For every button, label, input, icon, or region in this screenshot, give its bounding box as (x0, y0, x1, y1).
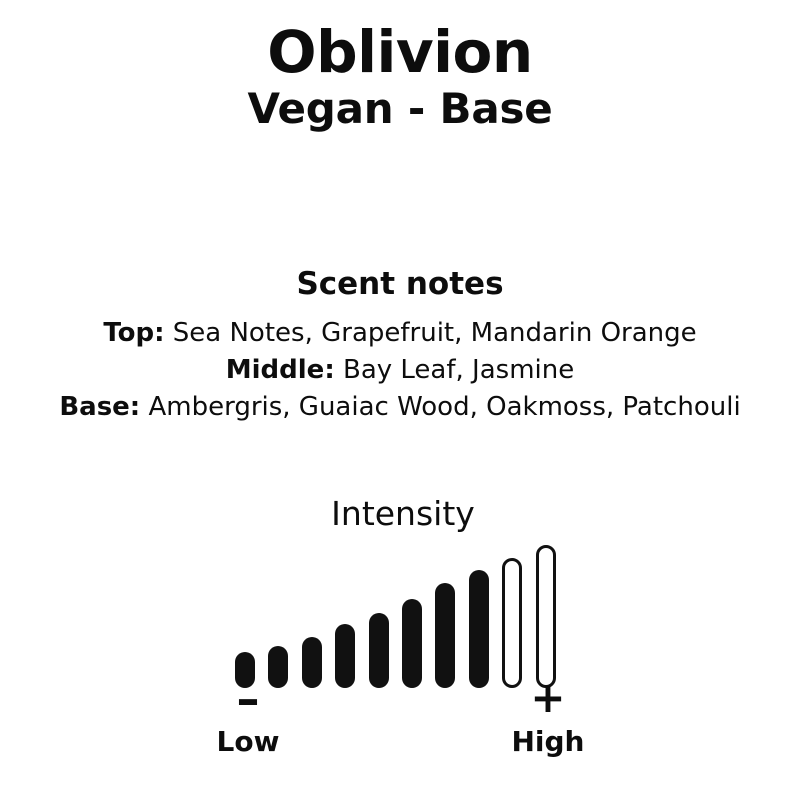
product-title: Oblivion (0, 22, 800, 83)
intensity-bar-chart (0, 538, 800, 688)
intensity-section: Intensity (0, 494, 800, 688)
perfume-info-card: Oblivion Vegan - Base Scent notes Top: S… (0, 0, 800, 800)
scent-notes-heading: Scent notes (0, 266, 800, 303)
scent-note-middle-label: Middle: (226, 355, 335, 385)
scent-note-base-label: Base: (59, 392, 140, 422)
scent-note-top-value: Sea Notes, Grapefruit, Mandarin Orange (173, 318, 697, 348)
scent-note-top-label: Top: (103, 318, 164, 348)
minus-icon: – (188, 681, 308, 723)
scent-note-top: Top: Sea Notes, Grapefruit, Mandarin Ora… (0, 315, 800, 352)
intensity-bar-7 (435, 583, 455, 688)
scent-notes-section: Scent notes Top: Sea Notes, Grapefruit, … (0, 266, 800, 426)
intensity-bar-5 (369, 613, 389, 688)
intensity-bar-9 (502, 558, 522, 688)
intensity-bar-6 (402, 599, 422, 688)
intensity-bar-10 (536, 545, 556, 688)
intensity-scale-high: + High (488, 681, 608, 758)
scent-note-middle-value: Bay Leaf, Jasmine (343, 355, 574, 385)
intensity-low-label: Low (188, 727, 308, 758)
intensity-heading: Intensity (0, 494, 800, 534)
plus-icon: + (488, 681, 608, 723)
intensity-scale-legend: – Low + High (0, 681, 800, 771)
intensity-bar-8 (469, 570, 489, 688)
product-subtitle: Vegan - Base (0, 85, 800, 132)
product-header: Oblivion Vegan - Base (0, 22, 800, 133)
scent-note-middle: Middle: Bay Leaf, Jasmine (0, 352, 800, 389)
scent-note-base-value: Ambergris, Guaiac Wood, Oakmoss, Patchou… (148, 392, 740, 422)
scent-note-base: Base: Ambergris, Guaiac Wood, Oakmoss, P… (0, 389, 800, 426)
intensity-scale-low: – Low (188, 681, 308, 758)
intensity-bar-4 (335, 624, 355, 687)
intensity-high-label: High (488, 727, 608, 758)
